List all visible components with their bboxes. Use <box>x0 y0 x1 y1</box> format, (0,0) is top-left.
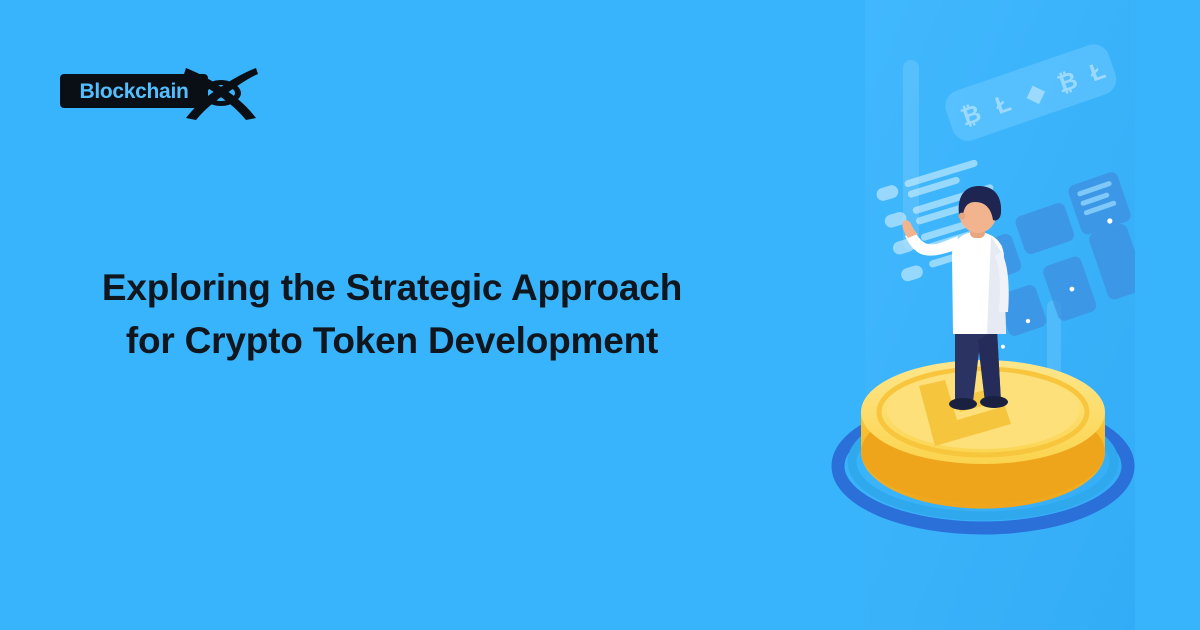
banner-root: Blockchain Exploring the Strategic Appro… <box>0 0 1200 630</box>
site-logo[interactable]: Blockchain <box>60 62 290 124</box>
hero-illustration: ₿ Ł ◆ ₿ Ł <box>815 0 1135 630</box>
person-shoe-right <box>980 396 1008 408</box>
person-ear <box>959 213 966 220</box>
person-shoe-left <box>949 398 977 410</box>
logo-x-icon <box>180 62 262 124</box>
logo-wordmark: Blockchain <box>79 81 188 102</box>
page-title-line-2: for Crypto Token Development <box>62 315 722 368</box>
page-title-line-1: Exploring the Strategic Approach <box>62 262 722 315</box>
page-title: Exploring the Strategic Approach for Cry… <box>62 262 722 367</box>
